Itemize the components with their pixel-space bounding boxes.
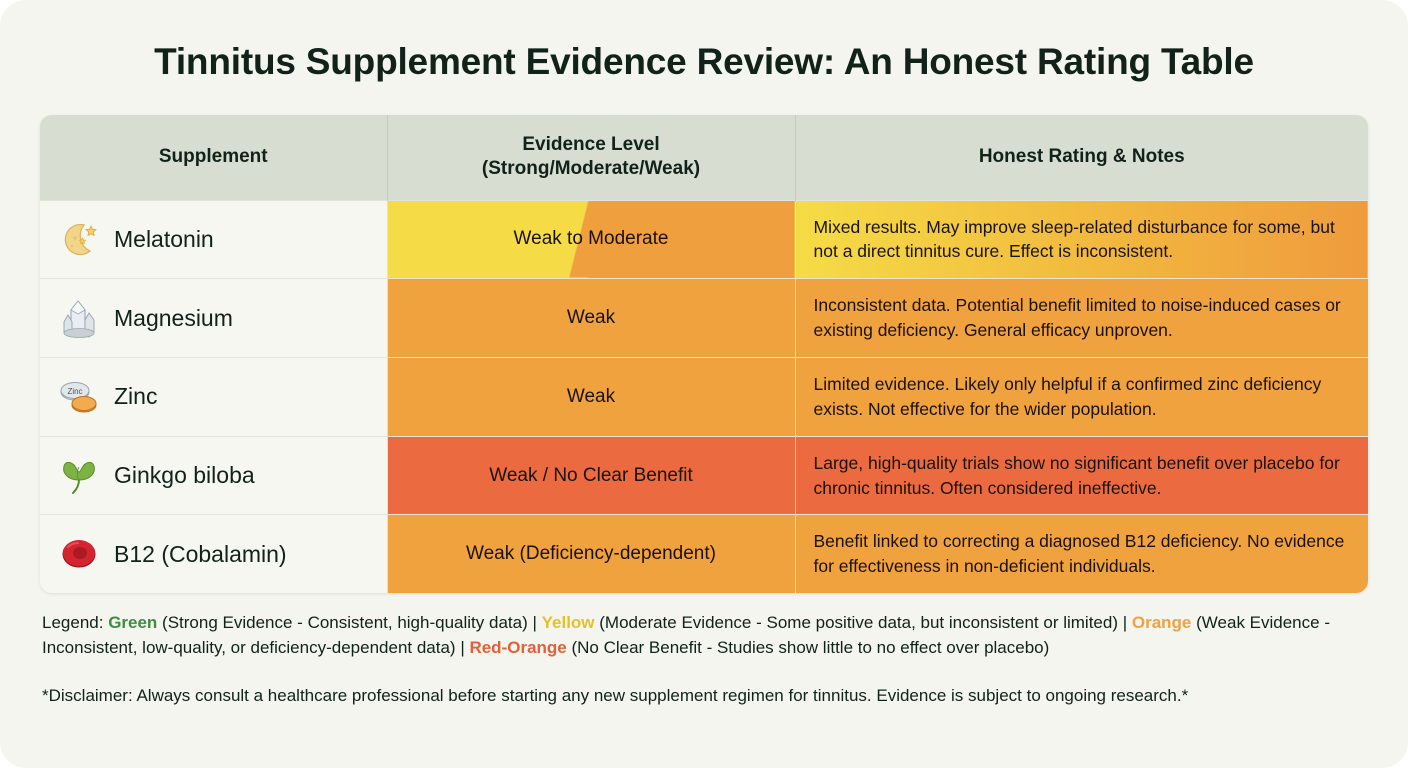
table-header: Supplement Evidence Level (Strong/Modera… — [40, 115, 1368, 200]
cell-supplement: ZincZinc — [40, 358, 387, 437]
evidence-header-line-1: Evidence Level — [398, 133, 785, 157]
supplement-name: Ginkgo biloba — [114, 462, 255, 489]
header-row: Supplement Evidence Level (Strong/Modera… — [40, 115, 1368, 200]
crescent-moon-stars-icon — [58, 218, 100, 260]
legend-prefix: Legend: — [42, 613, 108, 632]
evidence-level-text: Weak to Moderate — [514, 228, 669, 249]
zinc-tablets-icon: Zinc — [58, 376, 100, 418]
cell-evidence-level: Weak (Deficiency-dependent) — [387, 515, 795, 593]
cell-supplement: Ginkgo biloba — [40, 436, 387, 515]
table-row: MelatoninWeak to ModerateMixed results. … — [40, 200, 1368, 279]
red-blood-cell-icon — [58, 533, 100, 575]
notes-text: Inconsistent data. Potential benefit lim… — [814, 295, 1341, 340]
notes-text: Limited evidence. Likely only helpful if… — [814, 374, 1322, 419]
legend-desc-yellow: (Moderate Evidence - Some positive data,… — [595, 613, 1123, 632]
legend-key-green: Green — [108, 613, 157, 632]
supplement-name: Magnesium — [114, 305, 233, 332]
notes-text: Benefit linked to correcting a diagnosed… — [814, 531, 1345, 576]
cell-notes: Large, high-quality trials show no signi… — [795, 436, 1368, 515]
cell-supplement: B12 (Cobalamin) — [40, 515, 387, 593]
page-canvas: Tinnitus Supplement Evidence Review: An … — [0, 0, 1408, 768]
legend-key-orange: Orange — [1132, 613, 1192, 632]
table-body: MelatoninWeak to ModerateMixed results. … — [40, 200, 1368, 593]
column-header-evidence-level: Evidence Level (Strong/Moderate/Weak) — [387, 115, 795, 200]
cell-notes: Limited evidence. Likely only helpful if… — [795, 358, 1368, 437]
cell-supplement: Magnesium — [40, 279, 387, 358]
cell-evidence-level: Weak — [387, 358, 795, 437]
evidence-level-text: Weak / No Clear Benefit — [489, 465, 692, 486]
legend-key-yellow: Yellow — [542, 613, 595, 632]
evidence-header-line-2: (Strong/Moderate/Weak) — [398, 157, 785, 181]
ginkgo-leaf-icon — [58, 455, 100, 497]
supplement-name: Melatonin — [114, 226, 214, 253]
table-row: Ginkgo bilobaWeak / No Clear BenefitLarg… — [40, 436, 1368, 515]
cell-notes: Benefit linked to correcting a diagnosed… — [795, 515, 1368, 593]
cell-evidence-level: Weak — [387, 279, 795, 358]
evidence-table-container: Supplement Evidence Level (Strong/Modera… — [40, 115, 1368, 593]
cell-notes: Inconsistent data. Potential benefit lim… — [795, 279, 1368, 358]
notes-text: Large, high-quality trials show no signi… — [814, 453, 1340, 498]
column-header-notes: Honest Rating & Notes — [795, 115, 1368, 200]
evidence-level-text: Weak — [567, 307, 615, 328]
cell-evidence-level: Weak to Moderate — [387, 200, 795, 279]
table-row: MagnesiumWeakInconsistent data. Potentia… — [40, 279, 1368, 358]
svg-text:Zinc: Zinc — [67, 387, 82, 396]
cell-evidence-level: Weak / No Clear Benefit — [387, 436, 795, 515]
supplement-evidence-table: Supplement Evidence Level (Strong/Modera… — [40, 115, 1368, 593]
evidence-level-text: Weak — [567, 386, 615, 407]
notes-text: Mixed results. May improve sleep-related… — [814, 217, 1335, 262]
supplement-name: B12 (Cobalamin) — [114, 541, 287, 568]
cell-notes: Mixed results. May improve sleep-related… — [795, 200, 1368, 279]
crystal-gem-icon — [58, 297, 100, 339]
supplement-name: Zinc — [114, 383, 157, 410]
legend-desc-red-orange: (No Clear Benefit - Studies show little … — [567, 638, 1050, 657]
column-header-supplement: Supplement — [40, 115, 387, 200]
legend-separator-2: | — [1123, 613, 1132, 632]
legend-key-red-orange: Red-Orange — [469, 638, 566, 657]
table-row: ZincZincWeakLimited evidence. Likely onl… — [40, 358, 1368, 437]
legend-desc-green: (Strong Evidence - Consistent, high-qual… — [157, 613, 532, 632]
legend-separator-1: | — [532, 613, 541, 632]
page-title: Tinnitus Supplement Evidence Review: An … — [0, 0, 1408, 83]
disclaimer-text: *Disclaimer: Always consult a healthcare… — [42, 684, 1366, 708]
cell-supplement: Melatonin — [40, 200, 387, 279]
table-row: B12 (Cobalamin)Weak (Deficiency-dependen… — [40, 515, 1368, 593]
legend: Legend: Green (Strong Evidence - Consist… — [42, 611, 1366, 661]
evidence-level-text: Weak (Deficiency-dependent) — [466, 543, 716, 564]
